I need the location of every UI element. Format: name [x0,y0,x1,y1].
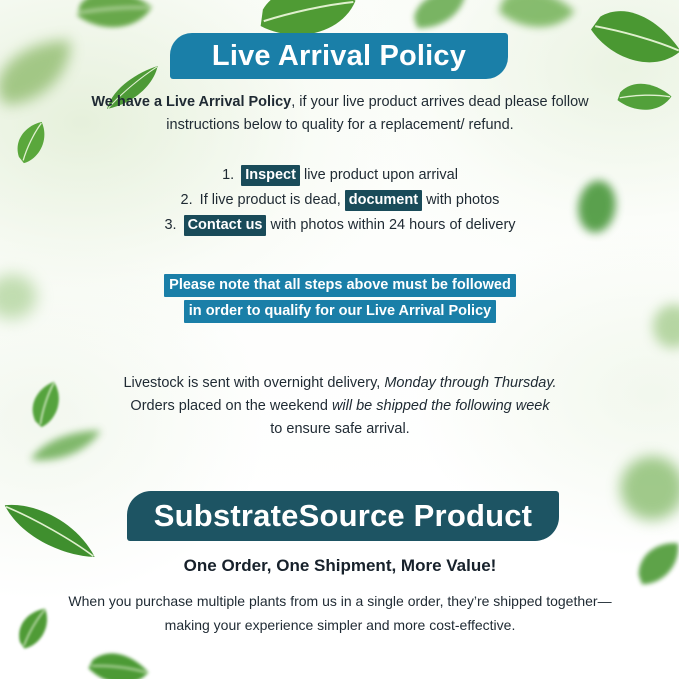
step-highlight: Inspect [241,165,300,186]
step-highlight: document [345,190,422,211]
shipping-l1-plain: Livestock is sent with overnight deliver… [123,375,384,391]
tagline: One Order, One Shipment, More Value! [70,556,610,576]
note-line: in order to qualify for our Live Arrival… [70,298,610,324]
note-line-1: Please note that all steps above must be… [164,274,516,297]
step-number: 1. [222,167,234,183]
step-after: live product upon arrival [304,167,458,183]
note-line: Please note that all steps above must be… [70,272,610,298]
note-line-2: in order to qualify for our Live Arrival… [184,300,496,323]
steps-list: 1. Inspect live product upon arrival 2. … [70,163,610,238]
step-before: If live product is dead, [200,192,341,208]
list-item: 3. Contact us with photos within 24 hour… [70,213,610,238]
list-item: 1. Inspect live product upon arrival [70,163,610,188]
shipping-l2-italic-a: will be shipped [332,398,427,414]
policy-note-block: Please note that all steps above must be… [70,272,610,324]
intro-paragraph: We have a Live Arrival Policy, if your l… [70,91,610,138]
shipping-l2-plain: Orders placed on the weekend [130,398,332,414]
banner-substratesource-product: SubstrateSource Product [127,491,559,541]
content-layer: Live Arrival Policy We have a Live Arriv… [0,0,679,679]
step-number: 3. [164,217,176,233]
list-item: 2. If live product is dead, document wit… [70,188,610,213]
step-number: 2. [181,192,193,208]
shipping-paragraph: Livestock is sent with overnight deliver… [70,372,610,442]
step-after: with photos within 24 hours of delivery [271,217,516,233]
shipping-l1-italic: Monday through Thursday. [384,375,556,391]
banner-live-arrival-policy: Live Arrival Policy [170,33,508,79]
outro-paragraph: When you purchase multiple plants from u… [62,590,618,637]
step-after: with photos [426,192,499,208]
live-arrival-policy-graphic: Live Arrival Policy We have a Live Arriv… [0,0,679,679]
step-highlight: Contact us [184,215,267,236]
intro-bold-lead: We have a Live Arrival Policy [91,94,291,110]
shipping-l3: to ensure safe arrival. [270,421,409,437]
shipping-l2-italic-b: the following week [427,398,550,414]
